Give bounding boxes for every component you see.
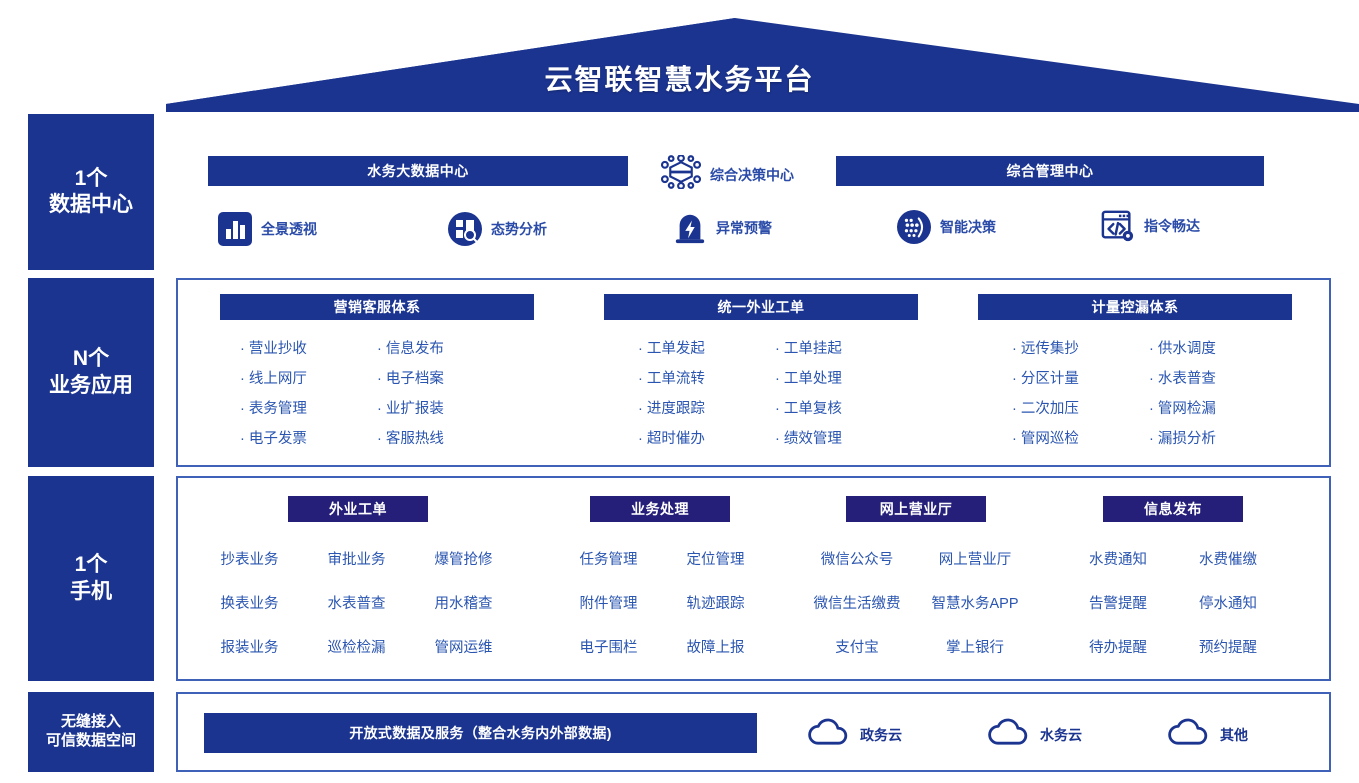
network-hub-icon (661, 155, 701, 194)
mobile-item[interactable]: 附件管理 (555, 582, 662, 626)
row-business-apps: N个 业务应用 营销客服体系 营业抄收 线上网厅 表务管理 电子发票 信息发布 (28, 278, 1331, 467)
row-body-mobile: 外业工单 抄表业务 换表业务 报装业务 审批业务 水表普查 巡检检漏 爆管抢修 (176, 476, 1331, 681)
mobile-group-field-work-order: 外业工单 抄表业务 换表业务 报装业务 审批业务 水表普查 巡检检漏 爆管抢修 (196, 496, 517, 670)
row-label-line2: 业务应用 (49, 373, 133, 399)
row-label-mobile: 1个 手机 (28, 476, 154, 681)
mobile-column: 水费催缴 停水通知 预约提醒 (1173, 538, 1283, 670)
row-body-data-space: 开放式数据及服务（整合水务内外部数据) 政务云 水务云 (176, 692, 1331, 772)
open-data-service-bar[interactable]: 开放式数据及服务（整合水务内外部数据) (204, 713, 757, 753)
ai-brain-icon (897, 210, 931, 244)
row-data-center: 1个 数据中心 水务大数据中心 (28, 114, 1331, 270)
group-column: 供水调度 水表普查 管网检漏 漏损分析 (1135, 334, 1292, 454)
mobile-item[interactable]: 水表普查 (303, 582, 410, 626)
list-item[interactable]: 绩效管理 (775, 424, 918, 454)
mobile-item[interactable]: 网上营业厅 (916, 538, 1034, 582)
feature-label: 全景透视 (261, 219, 317, 239)
mobile-item[interactable]: 告警提醒 (1063, 582, 1173, 626)
list-item[interactable]: 工单处理 (775, 364, 918, 394)
feature-situation-analysis[interactable]: 态势分析 (448, 212, 547, 246)
mobile-column: 审批业务 水表普查 巡检检漏 (303, 538, 410, 670)
row-label-line1: 无缝接入 (46, 713, 136, 732)
list-item[interactable]: 管网检漏 (1149, 394, 1292, 424)
list-item[interactable]: 进度跟踪 (638, 394, 761, 424)
cloud-icon (808, 718, 850, 751)
cloud-other[interactable]: 其他 (1168, 718, 1248, 751)
group-column: 远传集抄 分区计量 二次加压 管网巡检 (978, 334, 1135, 454)
mobile-column: 定位管理 轨迹跟踪 故障上报 (662, 538, 769, 670)
list-item[interactable]: 工单发起 (638, 334, 761, 364)
row-body-business-apps: 营销客服体系 营业抄收 线上网厅 表务管理 电子发票 信息发布 电子档案 业扩报… (176, 278, 1331, 467)
cloud-icon (988, 718, 1030, 751)
mobile-column: 水费通知 告警提醒 待办提醒 (1063, 538, 1173, 670)
row-body-data-center: 水务大数据中心 (176, 114, 1331, 270)
mobile-item[interactable]: 水费催缴 (1173, 538, 1283, 582)
feature-anomaly-alert[interactable]: 异常预警 (673, 211, 772, 245)
list-item[interactable]: 客服热线 (377, 424, 534, 454)
group-column: 营业抄收 线上网厅 表务管理 电子发票 (220, 334, 377, 454)
cloud-gov[interactable]: 政务云 (808, 718, 902, 751)
mobile-item[interactable]: 电子围栏 (555, 626, 662, 670)
cloud-icon (1168, 718, 1210, 751)
mobile-item[interactable]: 任务管理 (555, 538, 662, 582)
mobile-item[interactable]: 报装业务 (196, 626, 303, 670)
group-column: 工单发起 工单流转 进度跟踪 超时催办 (604, 334, 761, 454)
row-label-line1: 1个 (70, 552, 112, 578)
mobile-item[interactable]: 微信公众号 (798, 538, 916, 582)
group-marketing-service: 营销客服体系 营业抄收 线上网厅 表务管理 电子发票 信息发布 电子档案 业扩报… (220, 294, 534, 454)
group-metering-leakage-control: 计量控漏体系 远传集抄 分区计量 二次加压 管网巡检 供水调度 水表普查 管网检… (978, 294, 1292, 454)
mobile-item[interactable]: 管网运维 (410, 626, 517, 670)
mobile-column: 微信公众号 微信生活缴费 支付宝 (798, 538, 916, 670)
row-label-business-apps: N个 业务应用 (28, 278, 154, 467)
mobile-item[interactable]: 定位管理 (662, 538, 769, 582)
roof-banner: 云智联智慧水务平台 (0, 0, 1359, 112)
row-label-line2: 可信数据空间 (46, 732, 136, 751)
list-item[interactable]: 水表普查 (1149, 364, 1292, 394)
list-item[interactable]: 工单复核 (775, 394, 918, 424)
mobile-group-information-release: 信息发布 水费通知 告警提醒 待办提醒 水费催缴 停水通知 预约提醒 (1063, 496, 1283, 670)
bar-chart-icon (218, 212, 252, 246)
list-item[interactable]: 营业抄收 (240, 334, 377, 364)
feature-label: 异常预警 (716, 218, 772, 238)
list-item[interactable]: 供水调度 (1149, 334, 1292, 364)
cloud-water[interactable]: 水务云 (988, 718, 1082, 751)
mobile-group-online-service-hall: 网上营业厅 微信公众号 微信生活缴费 支付宝 网上营业厅 智慧水务APP 掌上银… (798, 496, 1034, 670)
feature-command-delivery[interactable]: 指令畅达 (1101, 209, 1200, 243)
cloud-label: 其他 (1220, 725, 1248, 745)
bar-integrated-management-center[interactable]: 综合管理中心 (836, 156, 1264, 186)
architecture-diagram: 云智联智慧水务平台 1个 数据中心 水务大数据中心 (0, 0, 1359, 783)
mobile-item[interactable]: 支付宝 (798, 626, 916, 670)
list-item[interactable]: 漏损分析 (1149, 424, 1292, 454)
list-item[interactable]: 超时催办 (638, 424, 761, 454)
bar-label: 水务大数据中心 (367, 161, 469, 181)
row-mobile: 1个 手机 外业工单 抄表业务 换表业务 报装业务 审批业务 水表普查 巡检 (28, 476, 1331, 681)
row-label-line2: 数据中心 (49, 192, 133, 218)
mobile-item[interactable]: 巡检检漏 (303, 626, 410, 670)
mobile-item[interactable]: 故障上报 (662, 626, 769, 670)
group-title[interactable]: 计量控漏体系 (978, 294, 1292, 320)
mobile-group-title[interactable]: 网上营业厅 (846, 496, 986, 522)
list-item[interactable]: 业扩报装 (377, 394, 534, 424)
mobile-item[interactable]: 轨迹跟踪 (662, 582, 769, 626)
mobile-item[interactable]: 用水稽查 (410, 582, 517, 626)
list-item[interactable]: 信息发布 (377, 334, 534, 364)
open-bar-label: 开放式数据及服务（整合水务内外部数据) (349, 723, 611, 743)
bar-water-bigdata-center[interactable]: 水务大数据中心 (208, 156, 628, 186)
list-item[interactable]: 电子档案 (377, 364, 534, 394)
list-item[interactable]: 电子发票 (240, 424, 377, 454)
bar-label: 综合管理中心 (1007, 161, 1094, 181)
group-column: 工单挂起 工单处理 工单复核 绩效管理 (761, 334, 918, 454)
alert-bell-lightning-icon (673, 211, 707, 245)
mobile-group-business-processing: 业务处理 任务管理 附件管理 电子围栏 定位管理 轨迹跟踪 故障上报 (555, 496, 769, 670)
feature-panorama[interactable]: 全景透视 (218, 212, 317, 246)
mobile-item[interactable]: 智慧水务APP (916, 582, 1034, 626)
code-window-gear-icon (1101, 209, 1135, 243)
row-label-data-space: 无缝接入 可信数据空间 (28, 692, 154, 772)
mobile-group-title[interactable]: 信息发布 (1103, 496, 1243, 522)
page-title: 云智联智慧水务平台 (0, 58, 1359, 98)
row-data-space: 无缝接入 可信数据空间 开放式数据及服务（整合水务内外部数据) 政务云 (28, 692, 1331, 772)
group-unified-field-work-order: 统一外业工单 工单发起 工单流转 进度跟踪 超时催办 工单挂起 工单处理 工单复… (604, 294, 918, 454)
mobile-column: 抄表业务 换表业务 报装业务 (196, 538, 303, 670)
mobile-group-title[interactable]: 业务处理 (590, 496, 730, 522)
mobile-column: 爆管抢修 用水稽查 管网运维 (410, 538, 517, 670)
feature-smart-decision[interactable]: 智能决策 (897, 210, 996, 244)
list-item[interactable]: 二次加压 (1012, 394, 1135, 424)
decision-center-group: 综合决策中心 (661, 155, 794, 194)
list-item[interactable]: 工单挂起 (775, 334, 918, 364)
row-label-data-center: 1个 数据中心 (28, 114, 154, 270)
cloud-label: 政务云 (860, 725, 902, 745)
mobile-item[interactable]: 待办提醒 (1063, 626, 1173, 670)
row-label-line1: 1个 (49, 166, 133, 192)
feature-label: 态势分析 (491, 219, 547, 239)
group-title[interactable]: 营销客服体系 (220, 294, 534, 320)
feature-label: 指令畅达 (1144, 216, 1200, 236)
mobile-column: 网上营业厅 智慧水务APP 掌上银行 (916, 538, 1034, 670)
mobile-item[interactable]: 审批业务 (303, 538, 410, 582)
mobile-item[interactable]: 微信生活缴费 (798, 582, 916, 626)
list-item[interactable]: 线上网厅 (240, 364, 377, 394)
cloud-label: 水务云 (1040, 725, 1082, 745)
list-item[interactable]: 表务管理 (240, 394, 377, 424)
mobile-item[interactable]: 预约提醒 (1173, 626, 1283, 670)
mobile-column: 任务管理 附件管理 电子围栏 (555, 538, 662, 670)
list-item[interactable]: 分区计量 (1012, 364, 1135, 394)
row-label-line2: 手机 (70, 579, 112, 605)
list-item[interactable]: 远传集抄 (1012, 334, 1135, 364)
dashboard-search-icon (448, 212, 482, 246)
group-title[interactable]: 统一外业工单 (604, 294, 918, 320)
list-item[interactable]: 管网巡检 (1012, 424, 1135, 454)
mobile-item[interactable]: 抄表业务 (196, 538, 303, 582)
bar-label-decision-center: 综合决策中心 (710, 165, 794, 185)
mobile-item[interactable]: 爆管抢修 (410, 538, 517, 582)
group-column: 信息发布 电子档案 业扩报装 客服热线 (377, 334, 534, 454)
mobile-item[interactable]: 水费通知 (1063, 538, 1173, 582)
mobile-item[interactable]: 掌上银行 (916, 626, 1034, 670)
row-label-line1: N个 (49, 346, 133, 372)
list-item[interactable]: 工单流转 (638, 364, 761, 394)
mobile-item[interactable]: 换表业务 (196, 582, 303, 626)
mobile-group-title[interactable]: 外业工单 (288, 496, 428, 522)
feature-label: 智能决策 (940, 217, 996, 237)
mobile-item[interactable]: 停水通知 (1173, 582, 1283, 626)
